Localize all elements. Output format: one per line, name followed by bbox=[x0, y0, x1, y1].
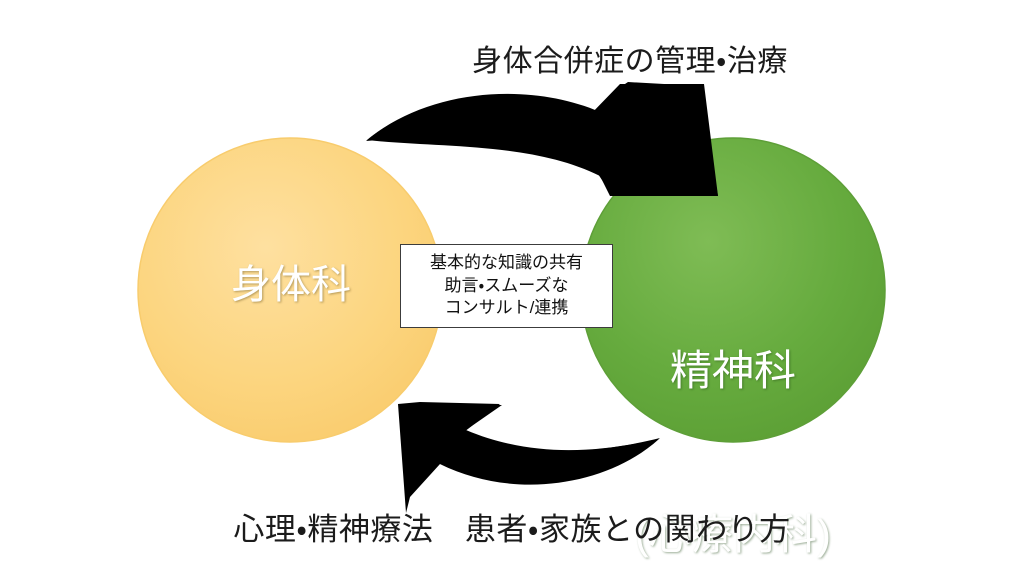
arrow-bottom-label: 心理・精神療法 患者・家族との関わり方 bbox=[0, 512, 1024, 549]
center-box-line-2: 助言・スムーズな bbox=[445, 275, 569, 298]
node-label-somatic: 身体科 bbox=[141, 262, 441, 309]
arrow-top-label: 身体合併症の管理・治療 bbox=[118, 44, 1024, 79]
diagram-canvas: 身体合併症の管理・治療 身体科 精神科 (心療内科) 基本的な知識の共有 助言・… bbox=[0, 0, 1024, 576]
center-box-line-1: 基本的な知識の共有 bbox=[430, 252, 583, 275]
node-label-psychiatry-line1: 精神科 bbox=[583, 344, 883, 399]
center-text-box: 基本的な知識の共有 助言・スムーズな コンサルト/連携 bbox=[400, 244, 613, 328]
center-box-line-3: コンサルト/連携 bbox=[445, 297, 569, 320]
